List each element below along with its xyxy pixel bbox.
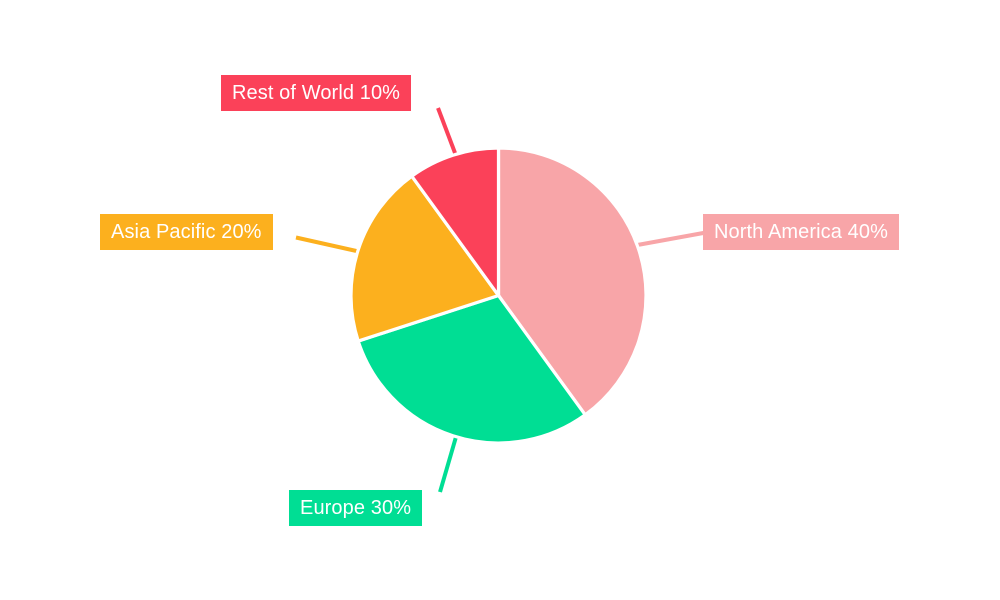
pie-label-north-america[interactable]: North America 40% — [703, 214, 899, 250]
pie-label-rest-of-world[interactable]: Rest of World 10% — [221, 75, 411, 111]
leader-line-north-america — [629, 233, 706, 247]
pie-chart-canvas — [0, 0, 1000, 600]
pie-label-asia-pacific[interactable]: Asia Pacific 20% — [100, 214, 273, 250]
pie-slices — [351, 148, 646, 443]
leader-line-europe — [440, 430, 458, 492]
pie-chart-figure: North America 40% Europe 30% Asia Pacifi… — [0, 0, 1000, 600]
pie-label-europe[interactable]: Europe 30% — [289, 490, 422, 526]
